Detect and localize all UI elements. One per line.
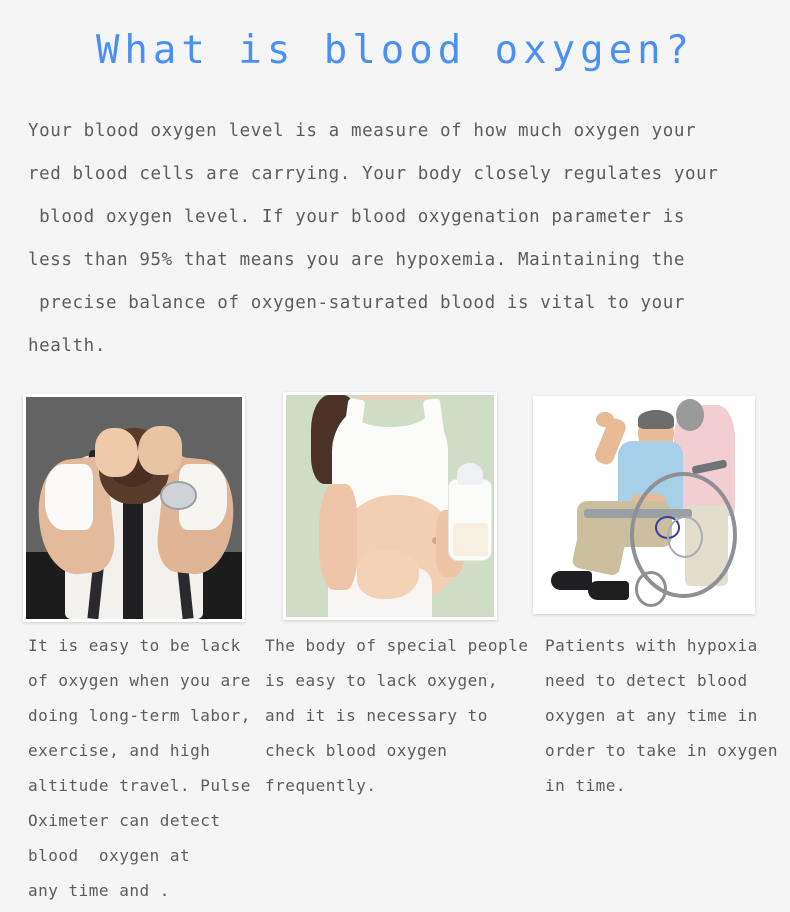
- caption-line: frequently.: [265, 768, 527, 803]
- caption-line: oxygen at any time in: [545, 698, 777, 733]
- photo-card-1: [23, 394, 245, 622]
- intro-line-5: precise balance of oxygen-saturated bloo…: [28, 282, 766, 325]
- hair-shape: [638, 410, 675, 429]
- caption-line: doing long-term labor,: [28, 698, 253, 733]
- caption-line: check blood oxygen: [265, 733, 527, 768]
- caption-line: Patients with hypoxia: [545, 628, 777, 663]
- caption-line: in time.: [545, 768, 777, 803]
- lower-leg-shape: [571, 526, 626, 577]
- sleeve-left-shape: [45, 464, 93, 531]
- baby-bottle-shape: [448, 479, 492, 561]
- intro-line-1: Your blood oxygen level is a measure of …: [28, 110, 766, 153]
- caption-row: It is easy to be lack of oxygen when you…: [0, 628, 790, 908]
- caption-line: blood oxygen at: [28, 838, 253, 873]
- caption-line: and it is necessary to: [265, 698, 527, 733]
- tank-strap-right-shape: [423, 398, 444, 435]
- caption-card-1: It is easy to be lack of oxygen when you…: [28, 628, 253, 908]
- photo-card-3: [533, 396, 755, 614]
- pregnant-woman-with-baby-bottle-photo: [286, 395, 494, 617]
- raised-fist-shape: [596, 412, 613, 427]
- shoe-right-shape: [588, 581, 629, 600]
- caption-line: is easy to lack oxygen,: [265, 663, 527, 698]
- caption-line: need to detect blood: [545, 663, 777, 698]
- intro-line-4: less than 95% that means you are hypoxem…: [28, 239, 766, 282]
- caption-card-3: Patients with hypoxia need to detect blo…: [545, 628, 777, 803]
- wheelchair-small-wheel-shape: [635, 571, 667, 607]
- intro-line-6: health.: [28, 325, 766, 368]
- intro-line-2: red blood cells are carrying. Your body …: [28, 153, 766, 196]
- caption-line: order to take in oxygen: [545, 733, 777, 768]
- caption-card-2: The body of special people is easy to la…: [265, 628, 527, 803]
- bottle-milk-shape: [453, 523, 488, 557]
- hand-on-belly-shape: [357, 550, 419, 599]
- wristwatch-shape: [160, 481, 196, 509]
- intro-line-3: blood oxygen level. If your blood oxygen…: [28, 196, 766, 239]
- hand-left-shape: [95, 428, 138, 477]
- caption-line: Oximeter can detect: [28, 803, 253, 838]
- arm-left-shape: [319, 484, 356, 591]
- caption-line: exercise, and high: [28, 733, 253, 768]
- blood-oxygen-info-page: What is blood oxygen? Your blood oxygen …: [0, 0, 790, 912]
- shoe-left-shape: [551, 571, 592, 590]
- hand-right-shape: [138, 426, 181, 475]
- photo-card-2: [283, 392, 497, 620]
- necktie-shape: [123, 497, 142, 619]
- photo-row: [0, 392, 790, 624]
- intro-paragraph: Your blood oxygen level is a measure of …: [28, 110, 766, 368]
- caption-line: It is easy to be lack: [28, 628, 253, 663]
- caption-line: any time and .: [28, 873, 253, 908]
- caption-line: The body of special people: [265, 628, 527, 663]
- stressed-man-holding-head-photo: [26, 397, 242, 619]
- page-title: What is blood oxygen?: [0, 28, 790, 73]
- elderly-man-in-wheelchair-photo: [536, 399, 752, 611]
- caption-line: of oxygen when you are: [28, 663, 253, 698]
- caption-line: altitude travel. Pulse: [28, 768, 253, 803]
- bottle-cap-shape: [457, 463, 484, 485]
